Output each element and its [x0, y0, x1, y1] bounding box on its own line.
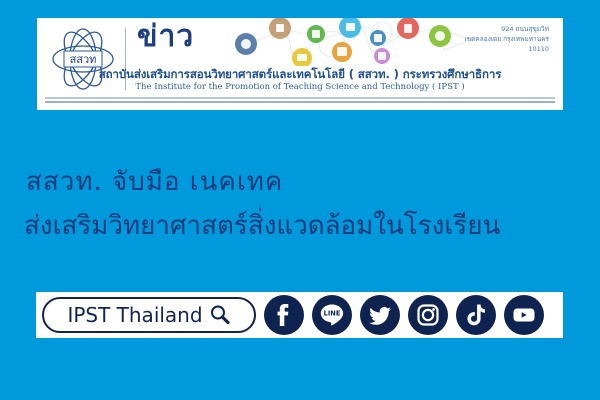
- twitter-icon[interactable]: [360, 295, 400, 335]
- search-pill-label: IPST Thailand: [67, 303, 202, 327]
- svg-text:LINE: LINE: [324, 310, 341, 318]
- facebook-icon[interactable]: [264, 295, 304, 335]
- header-card: สสวท ข่าว 924 ถนนสุขุมวิท เขตคลองเตย กรุ…: [37, 18, 563, 110]
- organization-name-english: The Institute for the Promotion of Teach…: [57, 82, 543, 92]
- address-line-1: 924 ถนนสุขุมวิท: [464, 24, 549, 34]
- line-icon[interactable]: LINE: [312, 295, 352, 335]
- search-pill[interactable]: IPST Thailand: [42, 297, 256, 333]
- headline-line-2: ส่งเสริมวิทยาศาสตร์สิ่งแวดล้อมในโรงเรียน: [24, 204, 586, 248]
- news-heading: ข่าว: [137, 22, 194, 52]
- social-bar: IPST Thailand LINE: [36, 292, 563, 338]
- science-icon-cluster: [232, 18, 492, 66]
- logo-text: สสวท: [70, 53, 97, 66]
- headline: สสวท. จับมือ เนคเทค ส่งเสริมวิทยาศาสตร์ส…: [26, 160, 586, 248]
- address-block: 924 ถนนสุขุมวิท เขตคลองเตย กรุงเทพมหานคร…: [464, 24, 549, 54]
- header-rule-bottom: [45, 101, 555, 103]
- headline-line-1: สสวท. จับมือ เนคเทค: [26, 160, 586, 204]
- youtube-icon[interactable]: [504, 295, 544, 335]
- address-line-2: เขตคลองเตย กรุงเทพมหานคร: [464, 34, 549, 44]
- header-rule-top: [45, 97, 555, 99]
- instagram-icon[interactable]: [408, 295, 448, 335]
- address-line-3: 10110: [464, 44, 549, 54]
- search-icon: [209, 304, 231, 326]
- tiktok-icon[interactable]: [456, 295, 496, 335]
